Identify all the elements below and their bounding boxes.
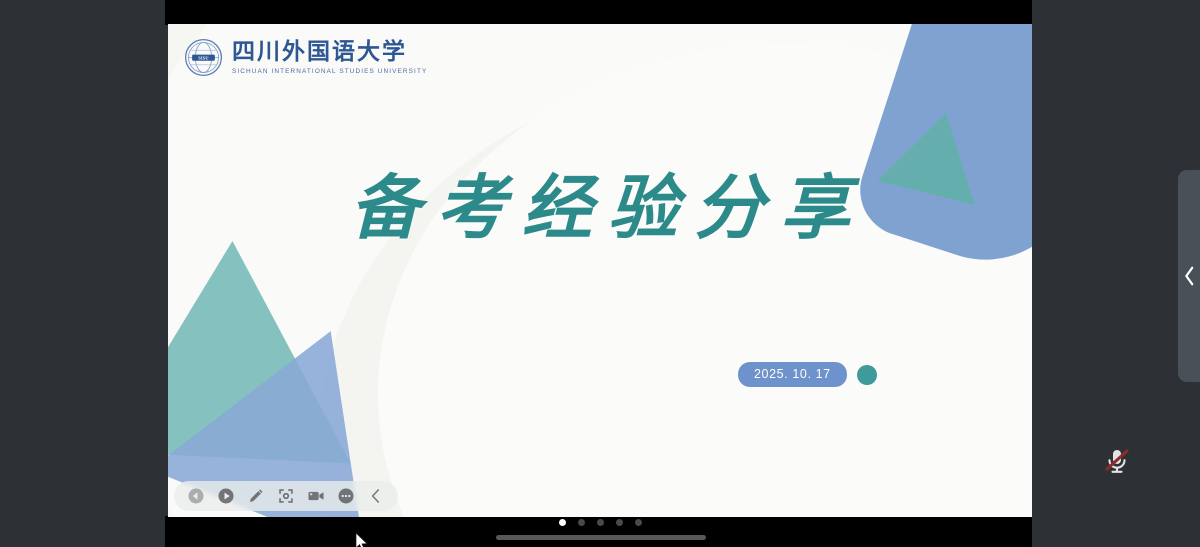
slide-title: 备考经验分享 <box>168 152 1032 253</box>
svg-text:SISU: SISU <box>198 55 209 60</box>
slide-date-row: 2025. 10. 17 <box>738 362 877 387</box>
pager-dot[interactable] <box>559 519 566 526</box>
pager-dot[interactable] <box>616 519 623 526</box>
slide-canvas[interactable]: SISU 四川外国语大学 SICHUAN INTERNATIONAL STUDI… <box>168 24 1032 517</box>
focus-target-icon[interactable] <box>277 487 295 505</box>
collapse-toolbar-button[interactable] <box>367 487 385 505</box>
decor-teal-dot <box>857 365 877 385</box>
pencil-icon[interactable] <box>247 487 265 505</box>
letterbox-top <box>165 0 1032 25</box>
university-name-en: SICHUAN INTERNATIONAL STUDIES UNIVERSITY <box>232 68 427 76</box>
pager-dot[interactable] <box>635 519 642 526</box>
more-dots-circle-icon[interactable] <box>337 487 355 505</box>
microphone-muted-icon[interactable] <box>1100 444 1134 478</box>
expand-drawer-handle[interactable] <box>1178 170 1200 382</box>
slide-date-chip: 2025. 10. 17 <box>738 362 847 387</box>
pager-dot[interactable] <box>578 519 585 526</box>
arrow-left-circle-icon[interactable] <box>187 487 205 505</box>
presentation-toolbar[interactable] <box>174 481 398 511</box>
video-camera-icon[interactable] <box>307 487 325 505</box>
university-brand-lockup: SISU 四川外国语大学 SICHUAN INTERNATIONAL STUDI… <box>184 38 427 77</box>
slide-pager[interactable] <box>0 517 1200 527</box>
university-name-cn: 四川外国语大学 <box>232 40 427 65</box>
presentation-viewer: SISU 四川外国语大学 SICHUAN INTERNATIONAL STUDI… <box>0 0 1200 547</box>
chevron-left-icon <box>1183 266 1196 286</box>
university-seal-icon: SISU <box>184 38 223 77</box>
mouse-pointer-icon <box>355 532 369 547</box>
university-name-block: 四川外国语大学 SICHUAN INTERNATIONAL STUDIES UN… <box>232 40 427 76</box>
home-indicator[interactable] <box>496 535 706 540</box>
pager-dot[interactable] <box>597 519 604 526</box>
play-circle-icon[interactable] <box>217 487 235 505</box>
